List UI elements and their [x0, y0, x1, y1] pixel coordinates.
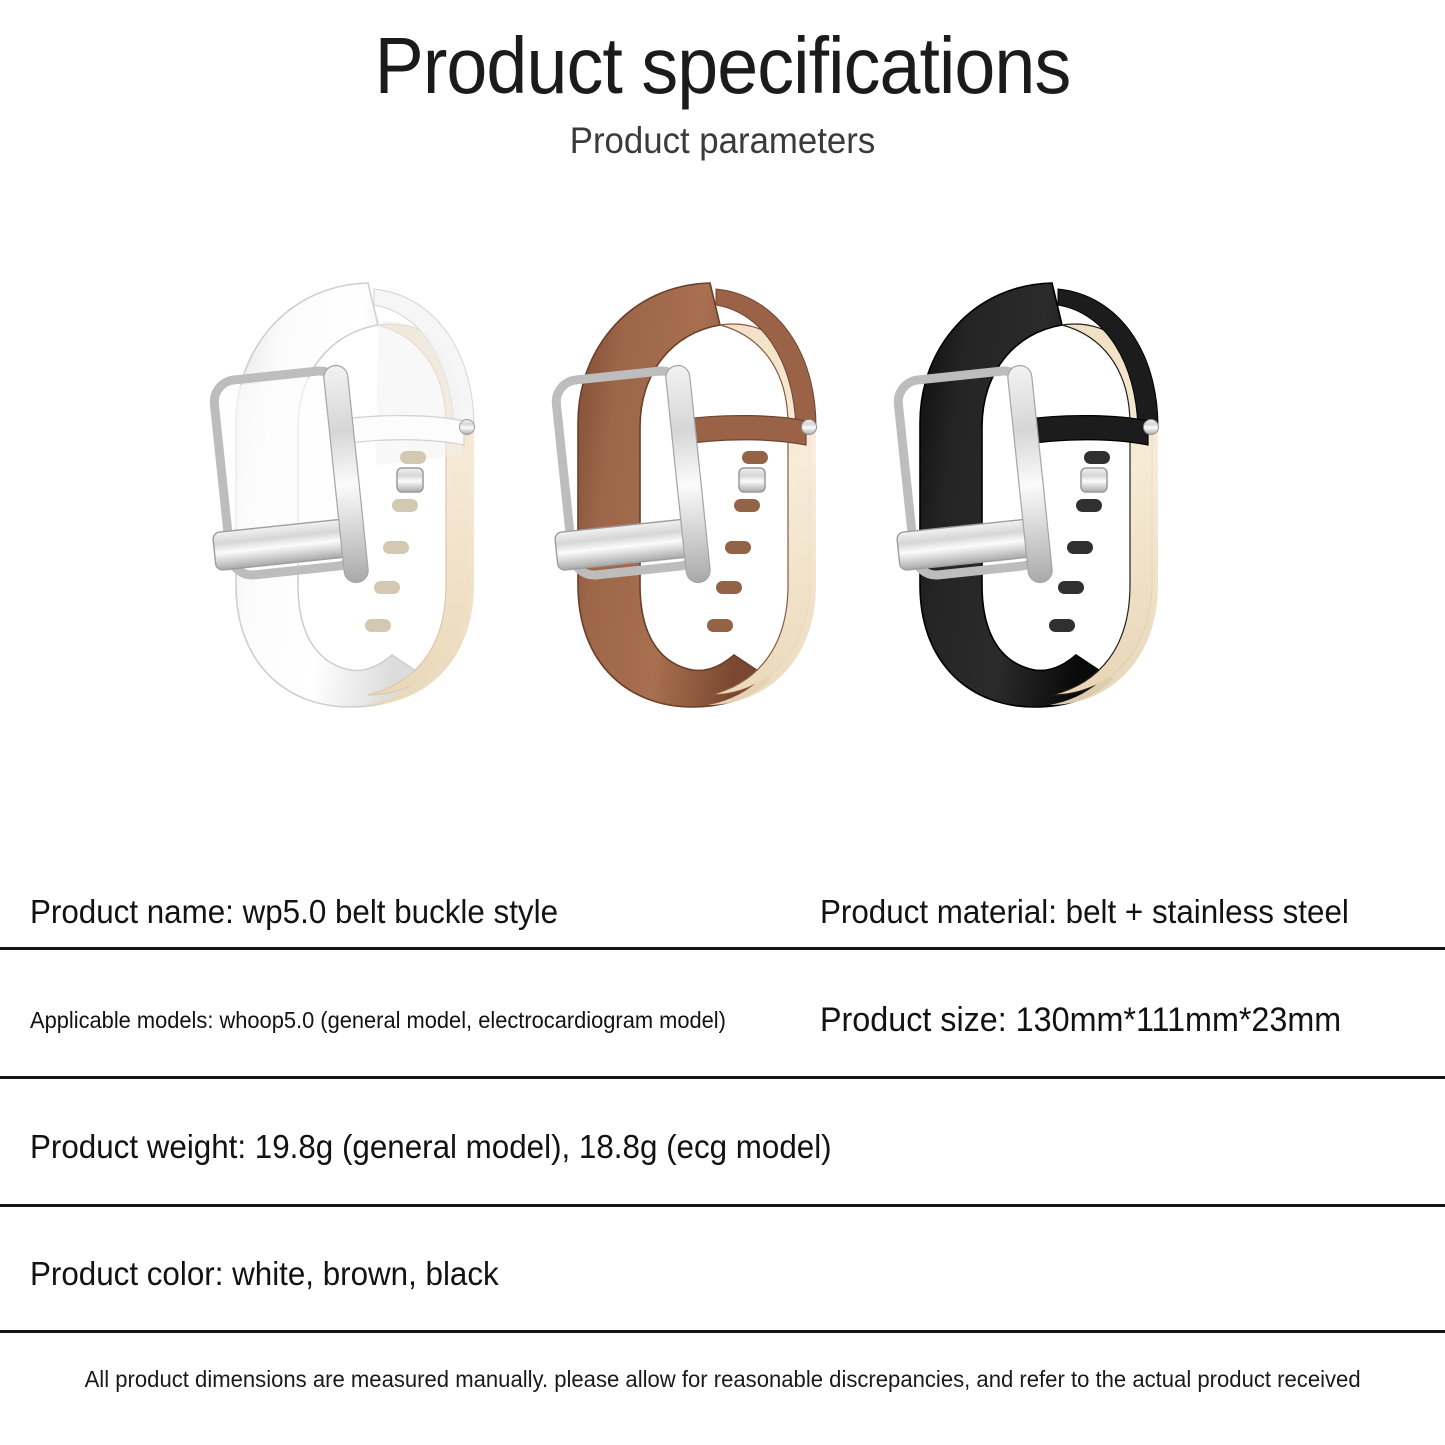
black-band-keeper: [1020, 416, 1148, 445]
spec-cell-product-color: Product color: white, brown, black: [0, 1255, 810, 1293]
spec-value-product-color: Product color: white, brown, black: [30, 1255, 499, 1293]
spec-row-models-size: Applicable models: whoop5.0 (general mod…: [0, 984, 1445, 1056]
spec-row-color: Product color: white, brown, black: [0, 1238, 1445, 1310]
spec-cell-product-size: Product size: 130mm*111mm*23mm: [810, 1001, 1445, 1040]
spec-value-product-name: Product name: wp5.0 belt buckle style: [30, 893, 558, 931]
page-subtitle: Product parameters: [43, 120, 1401, 162]
product-gallery: [0, 255, 1445, 765]
white-band-stud: [397, 468, 423, 492]
black-band-leather-outer: [920, 283, 1112, 707]
spec-cell-product-name: Product name: wp5.0 belt buckle style: [0, 893, 810, 931]
spec-row-name-material: Product name: wp5.0 belt buckle style Pr…: [0, 876, 1445, 948]
product-image-black-band[interactable]: [862, 255, 1242, 725]
spec-cell-product-material: Product material: belt + stainless steel: [810, 893, 1445, 931]
page-header: Product specifications Product parameter…: [0, 0, 1445, 162]
spec-divider-2: [0, 1076, 1445, 1079]
product-image-brown-band[interactable]: [520, 255, 900, 725]
product-image-white-band[interactable]: [178, 255, 558, 725]
spec-cell-product-weight: Product weight: 19.8g (general model), 1…: [0, 1128, 810, 1166]
black-band-pin: [1144, 420, 1159, 435]
spec-footnote: All product dimensions are measured manu…: [0, 1366, 1445, 1393]
spec-cell-applicable-models: Applicable models: whoop5.0 (general mod…: [0, 1007, 810, 1034]
black-band-back-top-edge: [1058, 289, 1158, 429]
spec-divider-3: [0, 1204, 1445, 1207]
page-title: Product specifications: [58, 26, 1387, 106]
white-band-pin: [460, 420, 475, 435]
brown-band-back-top-edge: [716, 289, 816, 429]
brown-band-pin: [802, 420, 817, 435]
spec-divider-1: [0, 947, 1445, 950]
brown-band-stud: [739, 468, 765, 492]
spec-value-applicable-models: Applicable models: whoop5.0 (general mod…: [30, 1007, 726, 1034]
spec-value-product-material: Product material: belt + stainless steel: [820, 893, 1349, 931]
spec-footnote-text: All product dimensions are measured manu…: [84, 1366, 1360, 1393]
spec-value-product-weight: Product weight: 19.8g (general model), 1…: [30, 1128, 832, 1166]
spec-value-product-size: Product size: 130mm*111mm*23mm: [820, 1001, 1341, 1040]
spec-divider-4: [0, 1330, 1445, 1333]
brown-band-keeper: [678, 416, 806, 445]
black-band-stud: [1081, 468, 1107, 492]
spec-row-weight: Product weight: 19.8g (general model), 1…: [0, 1111, 1445, 1183]
